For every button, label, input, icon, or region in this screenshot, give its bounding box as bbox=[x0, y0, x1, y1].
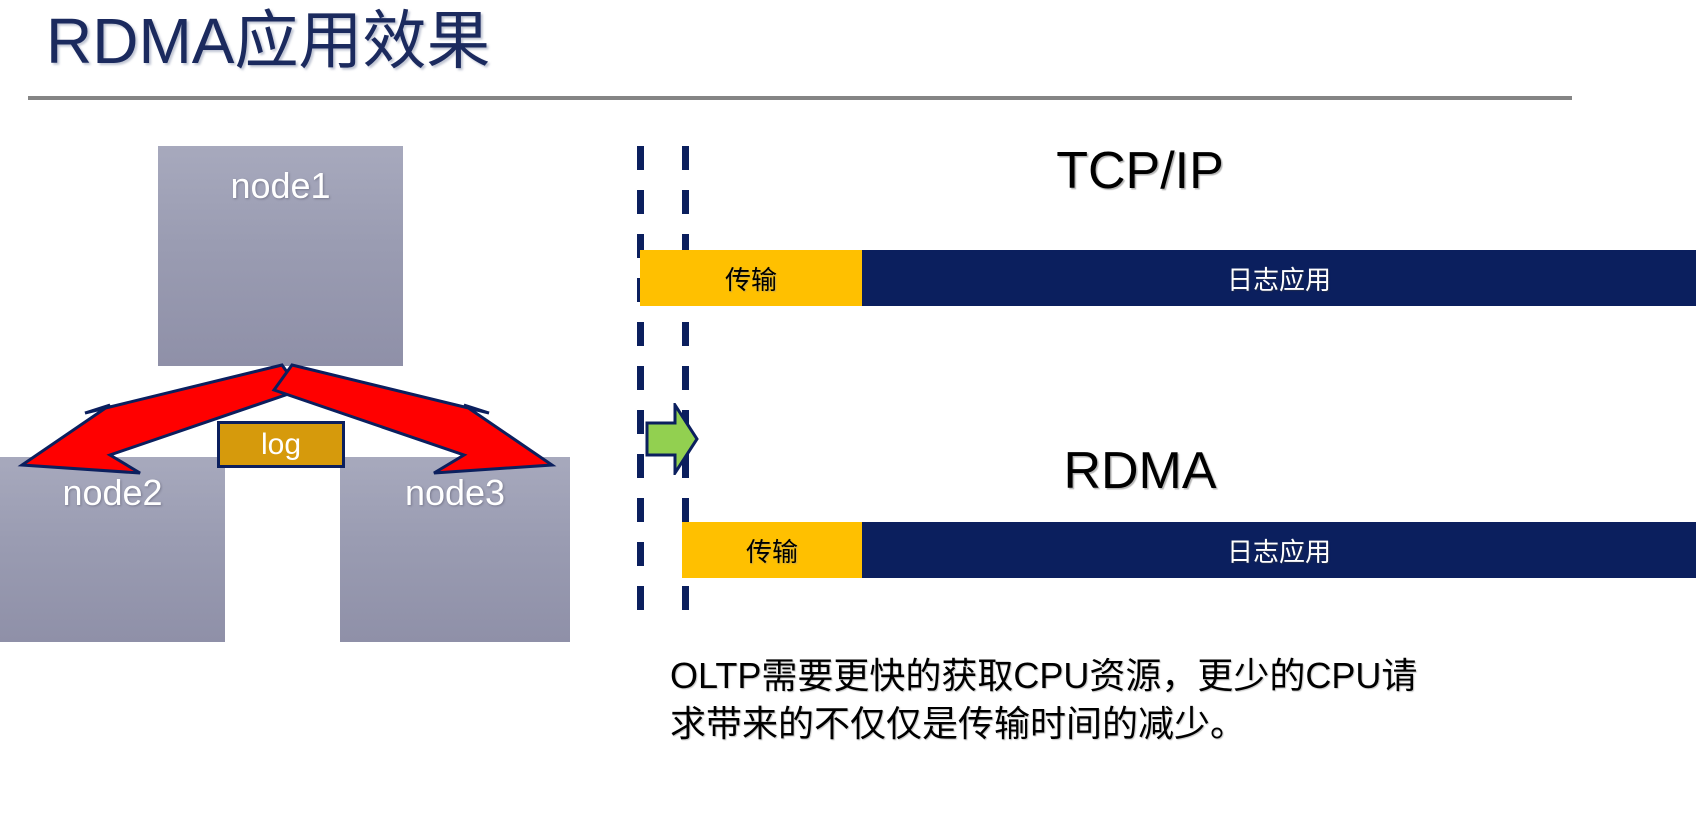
log-box: log bbox=[217, 421, 345, 468]
timing-bar-tcpip: 传输 日志应用 bbox=[640, 250, 1696, 306]
timing-bar-rdma: 传输 日志应用 bbox=[682, 522, 1696, 578]
timing-segment-log-apply-rdma: 日志应用 bbox=[862, 522, 1696, 578]
slide-caption: OLTP需要更快的获取CPU资源，更少的CPU请 求带来的不仅仅是传输时间的减少… bbox=[670, 652, 1580, 748]
cluster-node-node3: node3 bbox=[340, 457, 570, 642]
timing-row-label-tcpip: TCP/IP bbox=[880, 140, 1400, 202]
timing-row-label-rdma: RDMA bbox=[880, 440, 1400, 502]
title-divider bbox=[28, 96, 1572, 100]
timing-segment-transfer-tcpip: 传输 bbox=[640, 250, 862, 306]
log-box-label: log bbox=[261, 428, 301, 461]
timing-segment-log-apply-tcpip: 日志应用 bbox=[862, 250, 1696, 306]
cluster-node-node1: node1 bbox=[158, 146, 403, 366]
node-label: node2 bbox=[0, 475, 225, 511]
guide-line-start bbox=[637, 146, 644, 626]
node-label: node1 bbox=[158, 168, 403, 204]
timing-segment-transfer-rdma: 传输 bbox=[682, 522, 862, 578]
node-label: node3 bbox=[340, 475, 570, 511]
page-title: RDMA应用效果 bbox=[46, 2, 490, 80]
green-right-arrow-icon bbox=[645, 403, 699, 475]
caption-line-2: 求带来的不仅仅是传输时间的减少。 bbox=[670, 700, 1580, 748]
caption-line-1: OLTP需要更快的获取CPU资源，更少的CPU请 bbox=[670, 652, 1580, 700]
cluster-node-node2: node2 bbox=[0, 457, 225, 642]
